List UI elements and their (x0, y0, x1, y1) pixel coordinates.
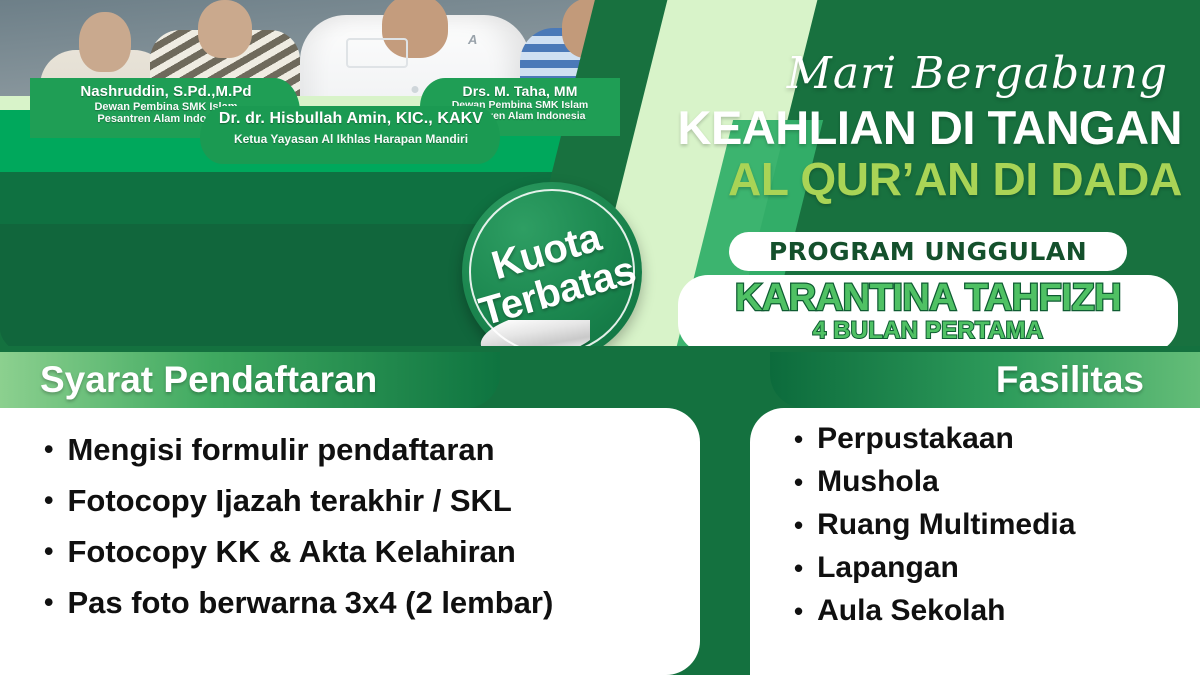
syarat-list: • Mengisi formulir pendaftaran • Fotocop… (0, 408, 700, 618)
list-item: • Pas foto berwarna 3x4 (2 lembar) (44, 587, 700, 618)
section-syarat-pendaftaran: Syarat Pendaftaran • Mengisi formulir pe… (0, 352, 720, 675)
bullet-icon: • (794, 598, 803, 624)
name-card-2-name: Dr. dr. Hisbullah Amin, KIC., KAKV (206, 110, 496, 128)
bullet-icon: • (44, 589, 53, 616)
fasilitas-card: • Perpustakaan • Mushola • Ruang Multime… (750, 408, 1200, 675)
syarat-item-2: Fotocopy Ijazah terakhir / SKL (67, 485, 511, 516)
headline-block: Mari Bergabung KEAHLIAN DI TANGAN AL QUR… (662, 52, 1182, 204)
list-item: • Mengisi formulir pendaftaran (44, 434, 700, 465)
kuota-terbatas-badge: Kuota Terbatas (462, 182, 642, 362)
headline-line-1: KEAHLIAN DI TANGAN (662, 104, 1182, 153)
section-fasilitas: Fasilitas • Perpustakaan • Mushola • Rua… (728, 352, 1200, 675)
name-card-2-role-1: Ketua Yayasan Al Ikhlas Harapan Mandiri (206, 133, 496, 146)
name-card-2: Dr. dr. Hisbullah Amin, KIC., KAKV Ketua… (206, 110, 496, 146)
fasilitas-item-5: Aula Sekolah (817, 596, 1005, 626)
fasilitas-item-3: Ruang Multimedia (817, 510, 1075, 540)
bullet-icon: • (794, 512, 803, 538)
list-item: • Mushola (794, 467, 1200, 497)
fasilitas-item-1: Perpustakaan (817, 424, 1014, 454)
program-main-label: KARANTINA TAHFIZH (704, 279, 1152, 318)
list-item: • Ruang Multimedia (794, 510, 1200, 540)
list-item: • Lapangan (794, 553, 1200, 583)
list-item: • Perpustakaan (794, 424, 1200, 454)
bullet-icon: • (44, 436, 53, 463)
bullet-icon: • (794, 469, 803, 495)
syarat-title: Syarat Pendaftaran (40, 359, 377, 401)
list-item: • Fotocopy Ijazah terakhir / SKL (44, 485, 700, 516)
fasilitas-item-4: Lapangan (817, 553, 959, 583)
fasilitas-list: • Perpustakaan • Mushola • Ruang Multime… (750, 408, 1200, 626)
name-card-3-name: Drs. M. Taha, MM (424, 84, 616, 100)
program-sub-label: 4 BULAN PERTAMA (704, 317, 1152, 345)
syarat-item-4: Pas foto berwarna 3x4 (2 lembar) (67, 587, 553, 618)
program-badge: PROGRAM UNGGULAN KARANTINA TAHFIZH 4 BUL… (678, 232, 1178, 353)
bullet-icon: • (794, 555, 803, 581)
syarat-header: Syarat Pendaftaran (0, 352, 500, 408)
headline-line-2: AL QUR’AN DI DADA (662, 155, 1182, 204)
name-card-1-name: Nashruddin, S.Pd.,M.Pd (36, 84, 296, 101)
fasilitas-item-2: Mushola (817, 467, 939, 497)
poster-root: Head Office SMK A Kepala Sekolah (0, 0, 1200, 675)
program-main-pill: KARANTINA TAHFIZH 4 BULAN PERTAMA (678, 275, 1178, 353)
program-unggulan-pill: PROGRAM UNGGULAN (729, 232, 1127, 271)
syarat-card: • Mengisi formulir pendaftaran • Fotocop… (0, 408, 700, 675)
fasilitas-header: Fasilitas (770, 352, 1200, 408)
headline-script: Mari Bergabung (662, 52, 1182, 96)
list-item: • Aula Sekolah (794, 596, 1200, 626)
syarat-item-1: Mengisi formulir pendaftaran (67, 434, 494, 465)
list-item: • Fotocopy KK & Akta Kelahiran (44, 536, 700, 567)
kuota-line-2: Terbatas (475, 250, 640, 333)
bullet-icon: • (44, 487, 53, 514)
kuota-line-1: Kuota (487, 218, 605, 288)
fasilitas-title: Fasilitas (996, 359, 1144, 401)
bullet-icon: • (44, 538, 53, 565)
syarat-item-3: Fotocopy KK & Akta Kelahiran (67, 536, 515, 567)
bullet-icon: • (794, 426, 803, 452)
